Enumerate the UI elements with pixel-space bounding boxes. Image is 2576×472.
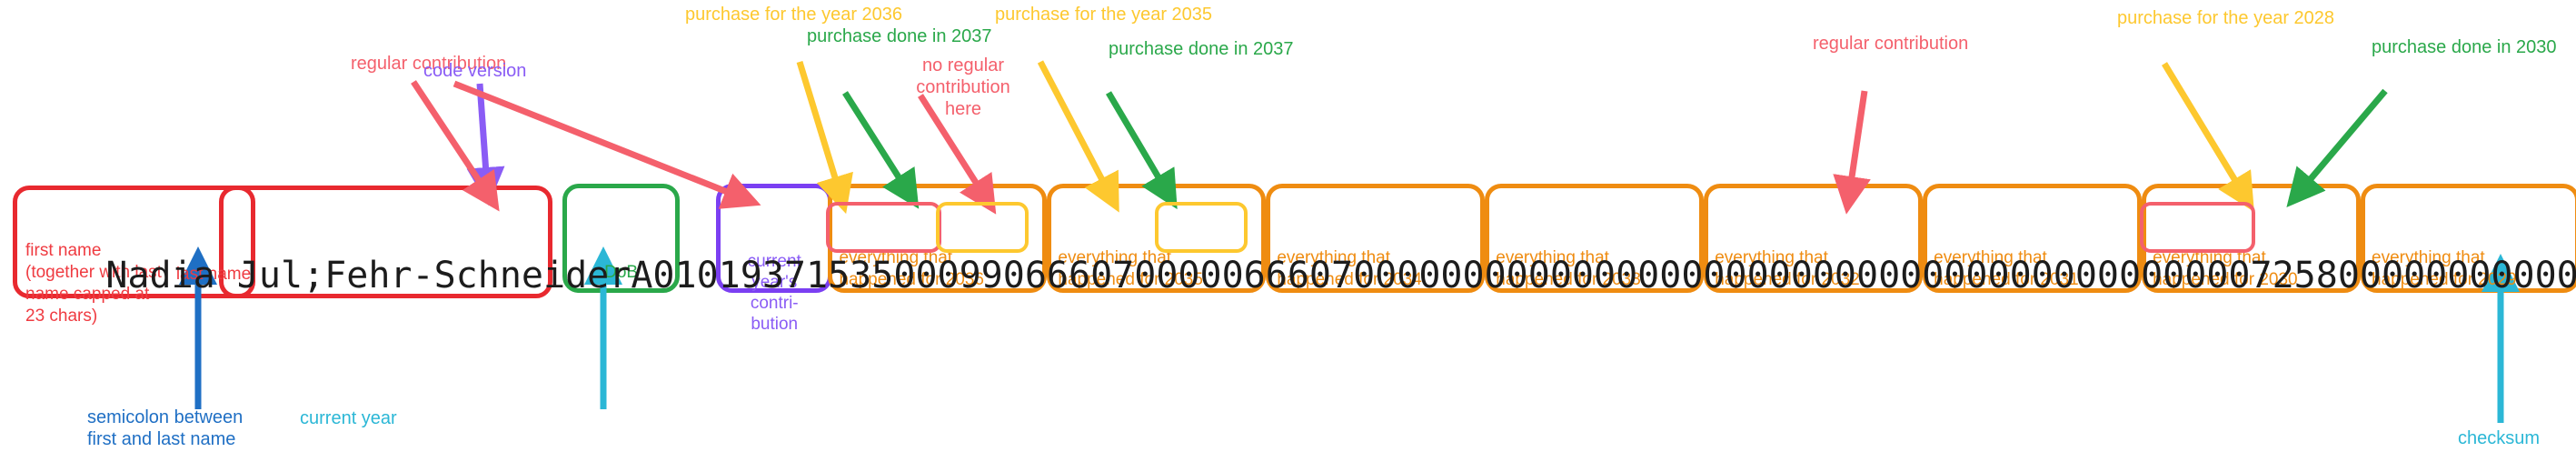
subbox-purchase-2036	[936, 202, 1029, 253]
subbox-purchase-2035	[1155, 202, 1248, 253]
ds-year-block-2033: 0000000000	[1572, 255, 1791, 296]
ds-current-contribution: 15350	[806, 255, 915, 296]
ds-year-block-2035: 0000066607	[1134, 255, 1353, 296]
label-purchase-done-2037-a: purchase done in 2037	[807, 25, 992, 47]
label-current-year: current year	[300, 407, 397, 429]
ds-first-name: Nadia Jul	[105, 255, 303, 296]
label-checksum: checksum	[2458, 427, 2540, 449]
subbox-contribution-2036	[826, 202, 940, 253]
label-regular-contribution-2: regular contribution	[1813, 33, 1968, 55]
ds-dob: 01019	[652, 255, 761, 296]
ds-last-name: Fehr-Schneider	[324, 255, 631, 296]
subbox-contribution-2030	[2140, 202, 2254, 253]
ds-year-block-2029: 0000000000	[2447, 255, 2576, 296]
label-purchase-done-2037-b: purchase done in 2037	[1109, 38, 1294, 60]
ds-code-version: A	[631, 255, 652, 296]
label-semicolon: semicolon between first and last name	[87, 407, 243, 450]
ds-year-block-2031: 0000000000	[2010, 255, 2229, 296]
ds-separator: ;	[303, 255, 324, 296]
ds-current-year: 37	[762, 255, 806, 296]
label-no-regular-contribution: no regular contribution here	[909, 55, 1018, 120]
label-purchase-2028: purchase for the year 2028	[2117, 7, 2334, 29]
ds-year-blocks: 0099066607000006660700000000000000000000…	[915, 255, 2576, 296]
diagram-canvas: Nadia Jul;Fehr-SchneiderA010193715350009…	[0, 0, 2576, 472]
ds-year-block-2032: 0000000000	[1791, 255, 2010, 296]
ds-year-block-2034: 0000000000	[1353, 255, 1572, 296]
label-purchase-done-2030: purchase done in 2030	[2372, 36, 2557, 58]
ds-year-block-2036: 0099066607	[915, 255, 1134, 296]
label-purchase-2035: purchase for the year 2035	[995, 4, 1212, 25]
label-code-version: code version	[423, 60, 526, 82]
label-purchase-2036: purchase for the year 2036	[685, 4, 902, 25]
ds-year-block-2030: 0725800000	[2228, 255, 2447, 296]
